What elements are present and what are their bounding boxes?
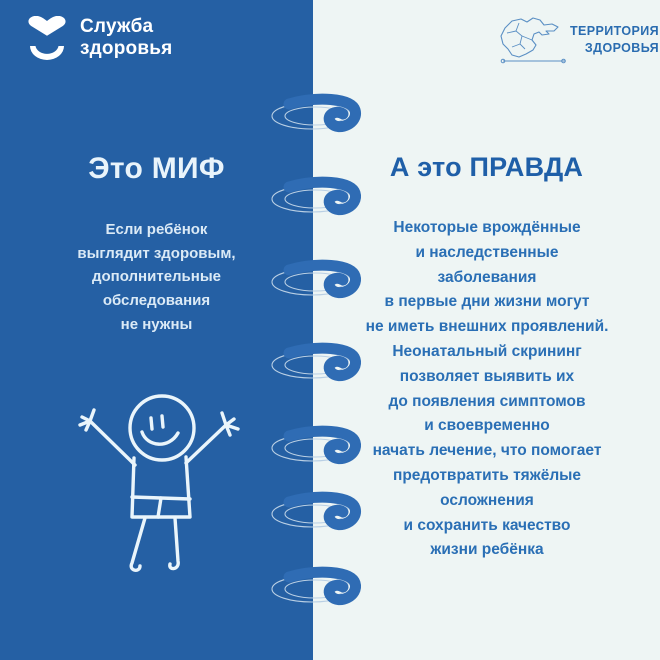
poster-canvas: Служба здоровья ТЕРРИТОРИЯ ЗДОРОВЬЯ Это … (0, 0, 660, 660)
territory-logo: ТЕРРИТОРИЯ ЗДОРОВЬЯ (492, 14, 659, 66)
heart-smile-icon (26, 16, 68, 60)
territory-logo-text: ТЕРРИТОРИЯ ЗДОРОВЬЯ (570, 23, 659, 57)
myth-heading: Это МИФ (0, 152, 313, 186)
service-logo: Служба здоровья (26, 16, 172, 61)
truth-body-text: Некоторые врождённые и наследственные за… (322, 216, 652, 563)
truth-heading: А это ПРАВДА (313, 152, 660, 183)
region-map-icon (492, 14, 566, 66)
stick-figure-child-icon (62, 385, 262, 575)
myth-body-text: Если ребёнок выглядит здоровым, дополнит… (24, 218, 289, 336)
service-logo-text: Служба здоровья (80, 16, 172, 61)
